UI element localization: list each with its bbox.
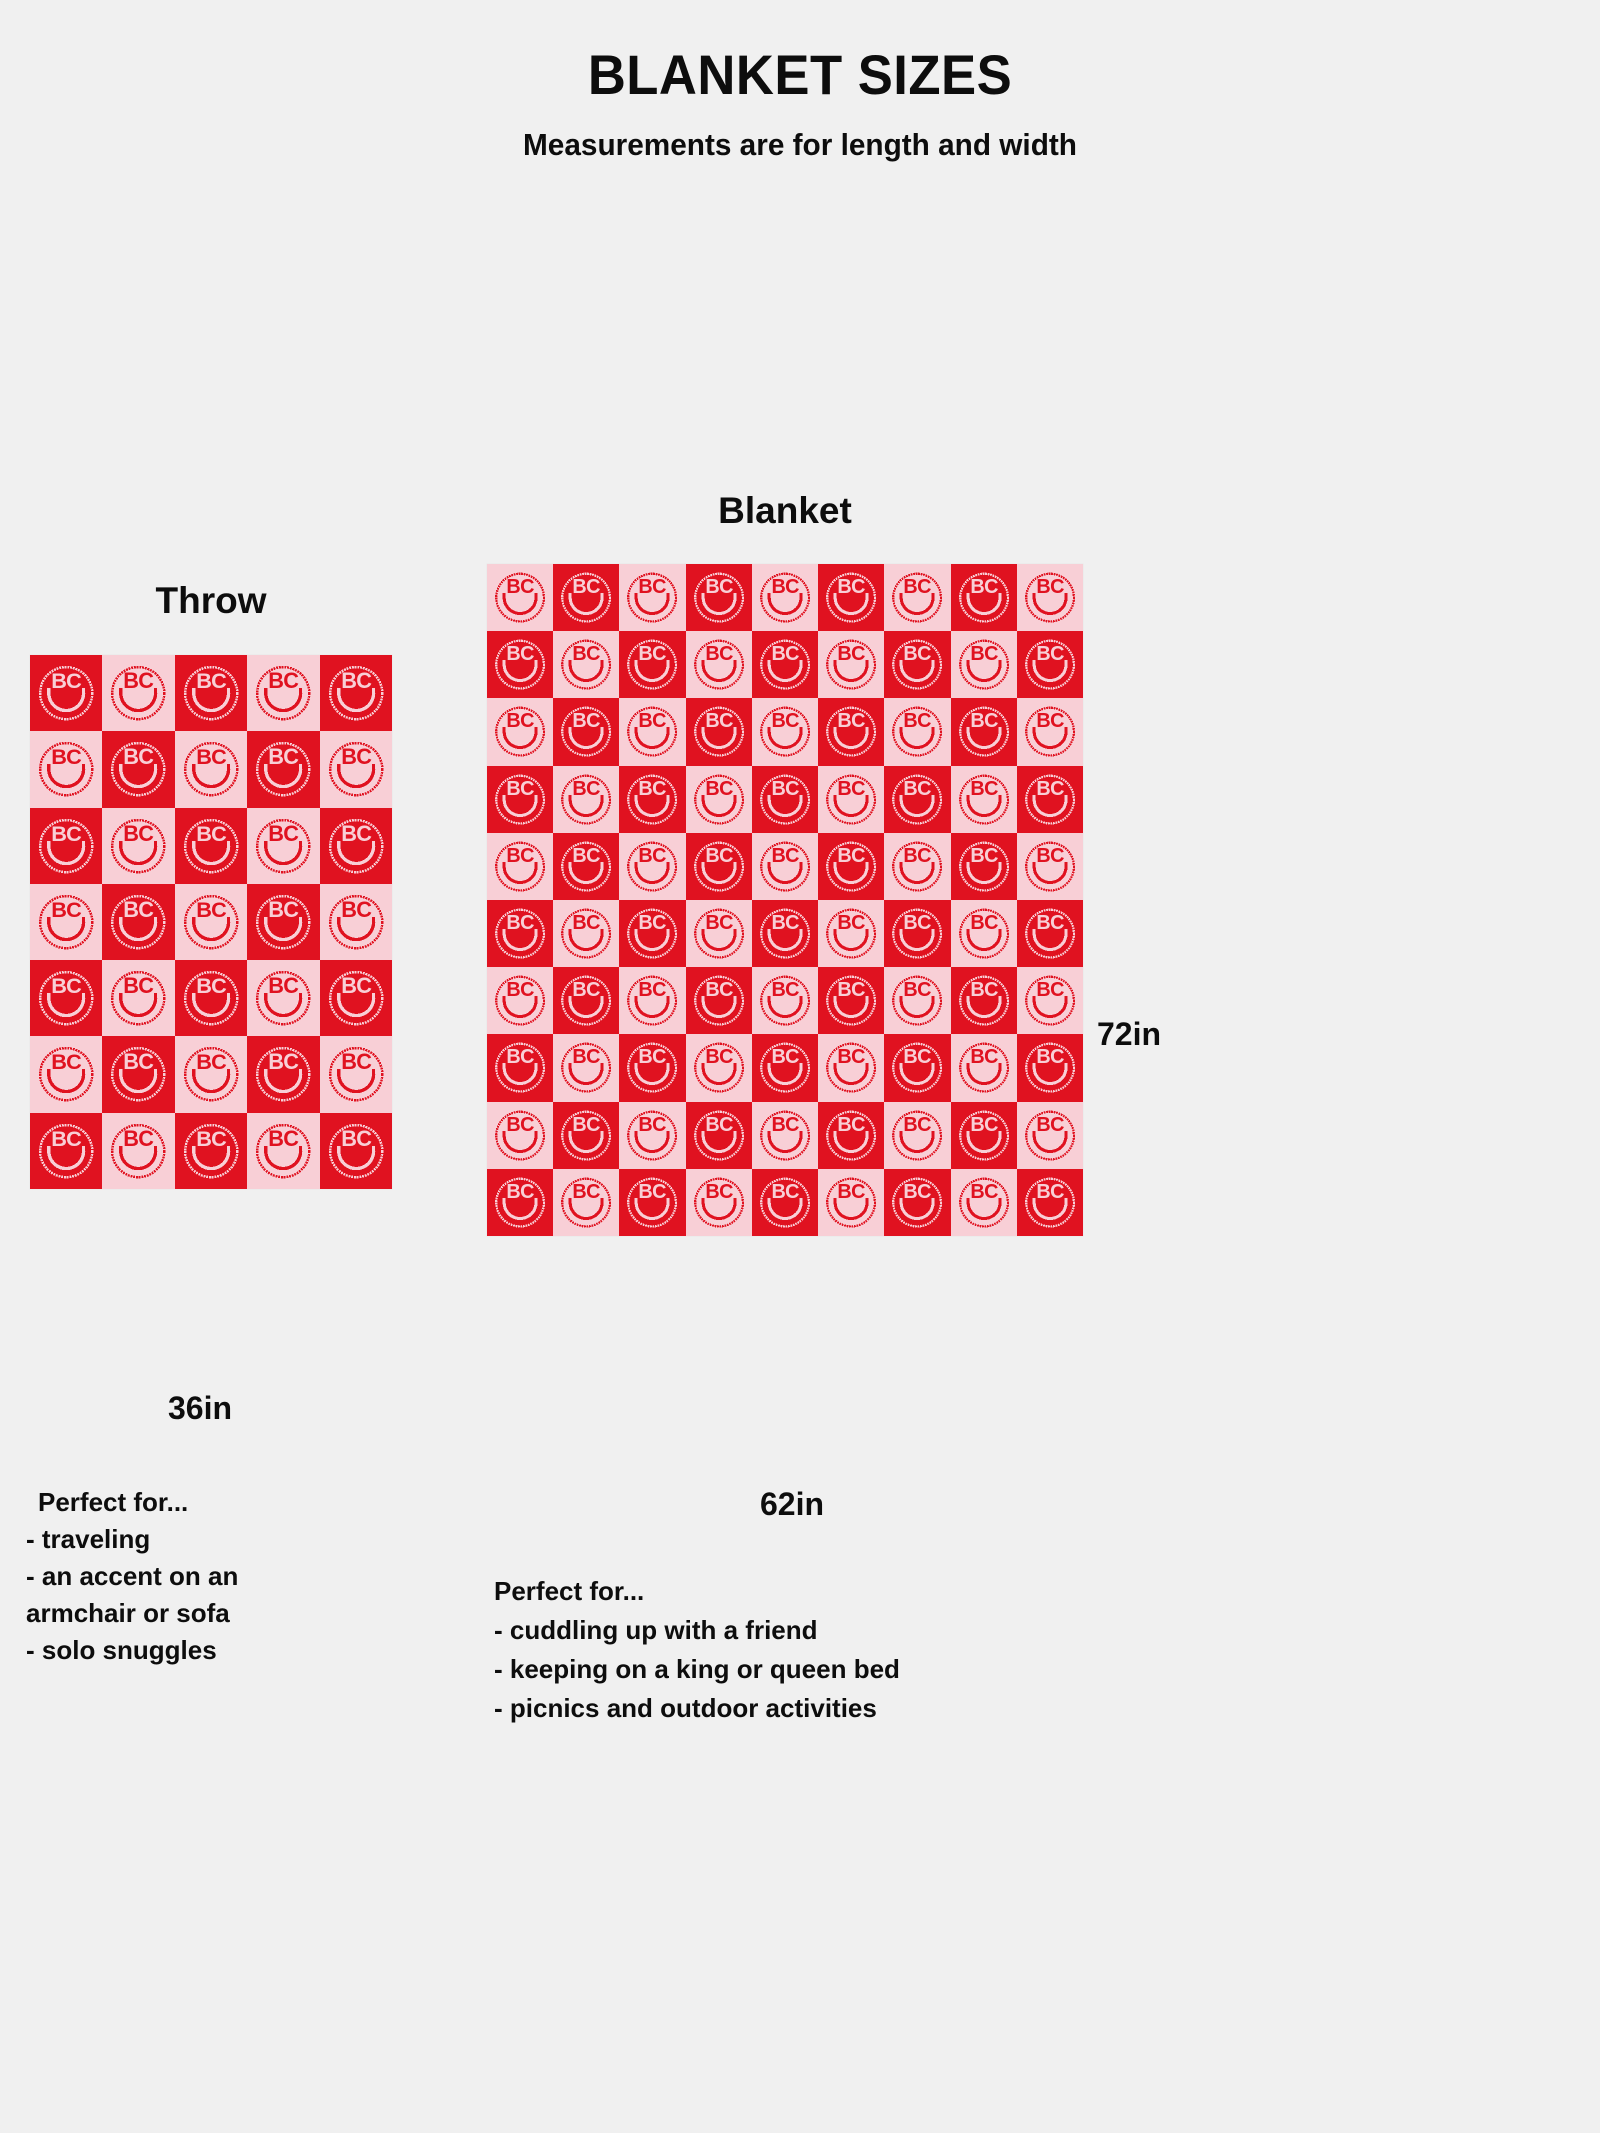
- blanket-cell: BC: [1017, 564, 1083, 631]
- blanket-cell: BC: [102, 808, 174, 884]
- bc-monogram: BC: [904, 979, 932, 1001]
- blanket-cell: BC: [686, 698, 752, 765]
- bc-monogram: BC: [838, 912, 866, 934]
- bc-monogram: BC: [639, 576, 667, 598]
- bc-monogram: BC: [771, 1181, 799, 1203]
- bc-monogram: BC: [1036, 1046, 1064, 1068]
- perfect-for-item: - an accent on an armchair or sofa: [26, 1558, 386, 1632]
- blanket-cell: BC: [320, 1036, 392, 1112]
- bc-smiley-icon: BC: [619, 967, 685, 1034]
- bc-smiley-icon: BC: [951, 833, 1017, 900]
- blanket-swatch-throw: BCBCBCBCBCBCBCBCBCBCBCBCBCBCBCBCBCBCBCBC…: [30, 655, 392, 1189]
- blanket-cell: BC: [30, 1036, 102, 1112]
- bc-monogram: BC: [705, 778, 733, 800]
- blanket-cell: BC: [247, 808, 319, 884]
- bc-monogram: BC: [838, 643, 866, 665]
- product-blanket: Blanket BCBCBCBCBCBCBCBCBCBCBCBCBCBCBCBC…: [487, 492, 1083, 1236]
- blanket-cell: BC: [752, 833, 818, 900]
- bc-smiley-icon: BC: [818, 1102, 884, 1169]
- bc-monogram: BC: [970, 1046, 998, 1068]
- blanket-cell: BC: [320, 808, 392, 884]
- bc-monogram: BC: [705, 845, 733, 867]
- bc-monogram: BC: [705, 643, 733, 665]
- blanket-cell: BC: [487, 564, 553, 631]
- blanket-cell: BC: [884, 1034, 950, 1101]
- bc-smiley-icon: BC: [818, 631, 884, 698]
- page-subtitle: Measurements are for length and width: [32, 105, 1568, 163]
- blanket-cell: BC: [818, 900, 884, 967]
- blanket-cell: BC: [102, 655, 174, 731]
- blanket-cell: BC: [951, 564, 1017, 631]
- bc-smiley-icon: BC: [487, 766, 553, 833]
- bc-smiley-icon: BC: [619, 698, 685, 765]
- blanket-cell: BC: [686, 564, 752, 631]
- bc-smiley-icon: BC: [686, 698, 752, 765]
- blanket-cell: BC: [752, 564, 818, 631]
- blanket-cell: BC: [553, 1034, 619, 1101]
- bc-smiley-icon: BC: [884, 900, 950, 967]
- blanket-cell: BC: [102, 960, 174, 1036]
- bc-smiley-icon: BC: [175, 655, 247, 731]
- blanket-cell: BC: [487, 967, 553, 1034]
- blanket-cell: BC: [175, 808, 247, 884]
- bc-smiley-icon: BC: [818, 1169, 884, 1236]
- blanket-cell: BC: [619, 833, 685, 900]
- bc-smiley-icon: BC: [619, 833, 685, 900]
- blanket-cell: BC: [1017, 1102, 1083, 1169]
- perfect-for-list: - traveling- an accent on an armchair or…: [26, 1521, 386, 1669]
- perfect-for-item: - cuddling up with a friend: [494, 1611, 1134, 1650]
- bc-smiley-icon: BC: [951, 1102, 1017, 1169]
- bc-monogram: BC: [1036, 643, 1064, 665]
- bc-monogram: BC: [51, 973, 82, 998]
- bc-smiley-icon: BC: [102, 655, 174, 731]
- bc-monogram: BC: [904, 1114, 932, 1136]
- bc-monogram: BC: [506, 643, 534, 665]
- bc-smiley-icon: BC: [102, 960, 174, 1036]
- blanket-cell: BC: [686, 900, 752, 967]
- bc-smiley-icon: BC: [30, 808, 102, 884]
- bc-smiley-icon: BC: [553, 1102, 619, 1169]
- blanket-cell: BC: [818, 1034, 884, 1101]
- blanket-cell: BC: [487, 766, 553, 833]
- bc-smiley-icon: BC: [884, 1169, 950, 1236]
- bc-monogram: BC: [506, 576, 534, 598]
- dimension-width-throw: 36in: [168, 1392, 232, 1424]
- bc-monogram: BC: [838, 979, 866, 1001]
- bc-monogram: BC: [573, 979, 601, 1001]
- blanket-cell: BC: [619, 1102, 685, 1169]
- blanket-cell: BC: [553, 766, 619, 833]
- blanket-cell: BC: [487, 1102, 553, 1169]
- bc-monogram: BC: [196, 821, 227, 846]
- bc-smiley-icon: BC: [752, 698, 818, 765]
- bc-smiley-icon: BC: [30, 655, 102, 731]
- blanket-cell: BC: [686, 967, 752, 1034]
- blanket-cell: BC: [175, 1036, 247, 1112]
- blanket-cell: BC: [30, 960, 102, 1036]
- blanket-cell: BC: [320, 655, 392, 731]
- bc-smiley-icon: BC: [553, 1034, 619, 1101]
- blanket-cell: BC: [247, 960, 319, 1036]
- bc-monogram: BC: [196, 668, 227, 693]
- blanket-cell: BC: [884, 1169, 950, 1236]
- blanket-cell: BC: [884, 564, 950, 631]
- blanket-cell: BC: [752, 766, 818, 833]
- bc-smiley-icon: BC: [752, 900, 818, 967]
- bc-smiley-icon: BC: [320, 655, 392, 731]
- bc-monogram: BC: [51, 744, 82, 769]
- bc-smiley-icon: BC: [686, 900, 752, 967]
- blanket-cell: BC: [487, 900, 553, 967]
- bc-smiley-icon: BC: [553, 967, 619, 1034]
- bc-smiley-icon: BC: [487, 1169, 553, 1236]
- blanket-cell: BC: [320, 884, 392, 960]
- blanket-cell: BC: [752, 967, 818, 1034]
- blanket-cell: BC: [752, 698, 818, 765]
- bc-monogram: BC: [1036, 845, 1064, 867]
- blanket-cell: BC: [553, 900, 619, 967]
- bc-smiley-icon: BC: [818, 900, 884, 967]
- bc-smiley-icon: BC: [553, 631, 619, 698]
- blanket-cell: BC: [553, 1102, 619, 1169]
- bc-smiley-icon: BC: [30, 960, 102, 1036]
- bc-smiley-icon: BC: [553, 766, 619, 833]
- bc-monogram: BC: [639, 778, 667, 800]
- blanket-cell: BC: [102, 731, 174, 807]
- blanket-cell: BC: [818, 766, 884, 833]
- bc-monogram: BC: [705, 912, 733, 934]
- bc-smiley-icon: BC: [487, 698, 553, 765]
- bc-monogram: BC: [838, 710, 866, 732]
- bc-smiley-icon: BC: [752, 631, 818, 698]
- bc-monogram: BC: [341, 897, 372, 922]
- bc-monogram: BC: [970, 845, 998, 867]
- bc-smiley-icon: BC: [884, 833, 950, 900]
- blanket-cell: BC: [487, 833, 553, 900]
- blanket-cell: BC: [553, 1169, 619, 1236]
- dimension-height-blanket: 72in: [1097, 1018, 1161, 1050]
- blanket-cell: BC: [487, 698, 553, 765]
- bc-smiley-icon: BC: [175, 1113, 247, 1189]
- bc-smiley-icon: BC: [686, 766, 752, 833]
- blanket-cell: BC: [884, 900, 950, 967]
- perfect-for-item: - solo snuggles: [26, 1632, 386, 1669]
- bc-smiley-icon: BC: [1017, 698, 1083, 765]
- bc-monogram: BC: [506, 845, 534, 867]
- blanket-cell: BC: [1017, 900, 1083, 967]
- bc-smiley-icon: BC: [686, 967, 752, 1034]
- blanket-cell: BC: [884, 833, 950, 900]
- bc-smiley-icon: BC: [818, 833, 884, 900]
- bc-monogram: BC: [771, 576, 799, 598]
- bc-monogram: BC: [573, 1114, 601, 1136]
- bc-smiley-icon: BC: [175, 808, 247, 884]
- blanket-cell: BC: [884, 766, 950, 833]
- blanket-cell: BC: [951, 631, 1017, 698]
- bc-smiley-icon: BC: [619, 900, 685, 967]
- bc-smiley-icon: BC: [884, 766, 950, 833]
- bc-monogram: BC: [771, 643, 799, 665]
- blanket-cell: BC: [1017, 698, 1083, 765]
- bc-monogram: BC: [506, 1114, 534, 1136]
- bc-smiley-icon: BC: [30, 1113, 102, 1189]
- blanket-cell: BC: [30, 1113, 102, 1189]
- bc-monogram: BC: [904, 643, 932, 665]
- bc-monogram: BC: [573, 1181, 601, 1203]
- perfect-for-lead: Perfect for...: [26, 1484, 386, 1521]
- bc-monogram: BC: [639, 710, 667, 732]
- bc-smiley-icon: BC: [1017, 833, 1083, 900]
- blanket-cell: BC: [619, 900, 685, 967]
- bc-monogram: BC: [341, 973, 372, 998]
- bc-monogram: BC: [639, 643, 667, 665]
- blanket-cell: BC: [247, 655, 319, 731]
- bc-monogram: BC: [771, 1114, 799, 1136]
- bc-smiley-icon: BC: [487, 1034, 553, 1101]
- bc-monogram: BC: [970, 643, 998, 665]
- bc-smiley-icon: BC: [30, 884, 102, 960]
- bc-monogram: BC: [771, 979, 799, 1001]
- blanket-cell: BC: [247, 1036, 319, 1112]
- bc-smiley-icon: BC: [30, 1036, 102, 1112]
- bc-monogram: BC: [1036, 710, 1064, 732]
- blanket-cell: BC: [686, 1034, 752, 1101]
- blanket-cell: BC: [884, 967, 950, 1034]
- bc-monogram: BC: [573, 845, 601, 867]
- bc-monogram: BC: [639, 979, 667, 1001]
- perfect-for-blanket: Perfect for... - cuddling up with a frie…: [494, 1572, 1134, 1728]
- bc-monogram: BC: [970, 778, 998, 800]
- blanket-cell: BC: [951, 900, 1017, 967]
- bc-smiley-icon: BC: [102, 808, 174, 884]
- bc-smiley-icon: BC: [619, 1102, 685, 1169]
- bc-smiley-icon: BC: [818, 1034, 884, 1101]
- blanket-cell: BC: [247, 884, 319, 960]
- bc-smiley-icon: BC: [320, 808, 392, 884]
- blanket-cell: BC: [553, 631, 619, 698]
- blanket-cell: BC: [951, 1102, 1017, 1169]
- bc-monogram: BC: [506, 979, 534, 1001]
- blanket-cell: BC: [951, 766, 1017, 833]
- bc-monogram: BC: [196, 1126, 227, 1151]
- bc-monogram: BC: [573, 710, 601, 732]
- bc-monogram: BC: [771, 778, 799, 800]
- bc-smiley-icon: BC: [247, 731, 319, 807]
- blanket-cell: BC: [553, 967, 619, 1034]
- blanket-cell: BC: [752, 631, 818, 698]
- bc-smiley-icon: BC: [686, 1034, 752, 1101]
- blanket-cell: BC: [619, 564, 685, 631]
- perfect-for-list: - cuddling up with a friend- keeping on …: [494, 1611, 1134, 1728]
- blanket-cell: BC: [818, 833, 884, 900]
- bc-smiley-icon: BC: [247, 655, 319, 731]
- bc-smiley-icon: BC: [102, 1036, 174, 1112]
- bc-smiley-icon: BC: [752, 766, 818, 833]
- bc-smiley-icon: BC: [884, 1034, 950, 1101]
- blanket-cell: BC: [320, 960, 392, 1036]
- bc-smiley-icon: BC: [487, 833, 553, 900]
- blanket-cell: BC: [951, 698, 1017, 765]
- blanket-cell: BC: [320, 1113, 392, 1189]
- blanket-cell: BC: [1017, 967, 1083, 1034]
- bc-smiley-icon: BC: [320, 884, 392, 960]
- blanket-cell: BC: [1017, 766, 1083, 833]
- bc-monogram: BC: [51, 668, 82, 693]
- bc-smiley-icon: BC: [247, 1113, 319, 1189]
- bc-smiley-icon: BC: [619, 766, 685, 833]
- bc-monogram: BC: [573, 778, 601, 800]
- blanket-cell: BC: [102, 1036, 174, 1112]
- bc-smiley-icon: BC: [951, 766, 1017, 833]
- bc-smiley-icon: BC: [487, 1102, 553, 1169]
- blanket-swatch-blanket: BCBCBCBCBCBCBCBCBCBCBCBCBCBCBCBCBCBCBCBC…: [487, 564, 1083, 1236]
- bc-monogram: BC: [904, 1046, 932, 1068]
- blanket-cell: BC: [487, 1169, 553, 1236]
- bc-monogram: BC: [838, 1046, 866, 1068]
- bc-smiley-icon: BC: [487, 900, 553, 967]
- bc-smiley-icon: BC: [1017, 631, 1083, 698]
- blanket-cell: BC: [175, 655, 247, 731]
- blanket-cell: BC: [884, 631, 950, 698]
- bc-smiley-icon: BC: [553, 900, 619, 967]
- bc-monogram: BC: [506, 1181, 534, 1203]
- bc-smiley-icon: BC: [951, 967, 1017, 1034]
- blanket-cell: BC: [951, 1169, 1017, 1236]
- bc-smiley-icon: BC: [1017, 900, 1083, 967]
- bc-smiley-icon: BC: [553, 698, 619, 765]
- blanket-cell: BC: [686, 766, 752, 833]
- bc-smiley-icon: BC: [686, 1169, 752, 1236]
- bc-monogram: BC: [904, 845, 932, 867]
- bc-smiley-icon: BC: [247, 808, 319, 884]
- bc-smiley-icon: BC: [619, 564, 685, 631]
- bc-smiley-icon: BC: [884, 1102, 950, 1169]
- product-name-blanket: Blanket: [487, 492, 1083, 529]
- bc-smiley-icon: BC: [320, 1036, 392, 1112]
- bc-smiley-icon: BC: [1017, 967, 1083, 1034]
- bc-monogram: BC: [341, 744, 372, 769]
- bc-monogram: BC: [904, 1181, 932, 1203]
- blanket-cell: BC: [818, 564, 884, 631]
- blanket-cell: BC: [553, 698, 619, 765]
- perfect-for-throw: Perfect for... - traveling- an accent on…: [26, 1484, 386, 1669]
- product-throw: Throw BCBCBCBCBCBCBCBCBCBCBCBCBCBCBCBCBC…: [30, 582, 392, 1189]
- bc-smiley-icon: BC: [884, 564, 950, 631]
- blanket-cell: BC: [30, 731, 102, 807]
- bc-monogram: BC: [838, 576, 866, 598]
- blanket-cell: BC: [619, 1169, 685, 1236]
- bc-smiley-icon: BC: [619, 1034, 685, 1101]
- bc-monogram: BC: [506, 1046, 534, 1068]
- blanket-cell: BC: [175, 884, 247, 960]
- blanket-cell: BC: [951, 967, 1017, 1034]
- bc-monogram: BC: [970, 710, 998, 732]
- bc-monogram: BC: [124, 897, 155, 922]
- perfect-for-item: - traveling: [26, 1521, 386, 1558]
- bc-smiley-icon: BC: [247, 884, 319, 960]
- bc-smiley-icon: BC: [320, 960, 392, 1036]
- bc-monogram: BC: [124, 1049, 155, 1074]
- bc-smiley-icon: BC: [686, 833, 752, 900]
- bc-smiley-icon: BC: [752, 564, 818, 631]
- bc-smiley-icon: BC: [1017, 564, 1083, 631]
- bc-smiley-icon: BC: [951, 900, 1017, 967]
- bc-monogram: BC: [771, 845, 799, 867]
- bc-smiley-icon: BC: [553, 564, 619, 631]
- blanket-cell: BC: [487, 1034, 553, 1101]
- bc-monogram: BC: [771, 912, 799, 934]
- bc-smiley-icon: BC: [818, 564, 884, 631]
- bc-monogram: BC: [1036, 1181, 1064, 1203]
- bc-monogram: BC: [51, 1126, 82, 1151]
- bc-monogram: BC: [705, 1181, 733, 1203]
- bc-monogram: BC: [639, 845, 667, 867]
- perfect-for-item: - picnics and outdoor activities: [494, 1689, 1134, 1728]
- bc-monogram: BC: [771, 1046, 799, 1068]
- bc-monogram: BC: [124, 744, 155, 769]
- bc-monogram: BC: [268, 1049, 299, 1074]
- blanket-cell: BC: [752, 1169, 818, 1236]
- blanket-cell: BC: [752, 1034, 818, 1101]
- bc-monogram: BC: [970, 979, 998, 1001]
- bc-monogram: BC: [268, 897, 299, 922]
- blanket-cell: BC: [619, 1034, 685, 1101]
- blanket-cell: BC: [175, 1113, 247, 1189]
- blanket-cell: BC: [686, 1102, 752, 1169]
- bc-monogram: BC: [51, 897, 82, 922]
- blanket-cell: BC: [818, 698, 884, 765]
- bc-monogram: BC: [341, 821, 372, 846]
- blanket-cell: BC: [951, 1034, 1017, 1101]
- blanket-cell: BC: [884, 698, 950, 765]
- blanket-cell: BC: [487, 631, 553, 698]
- bc-smiley-icon: BC: [818, 967, 884, 1034]
- bc-smiley-icon: BC: [884, 631, 950, 698]
- bc-smiley-icon: BC: [175, 1036, 247, 1112]
- blanket-cell: BC: [102, 884, 174, 960]
- bc-monogram: BC: [124, 821, 155, 846]
- blanket-cell: BC: [818, 1102, 884, 1169]
- bc-monogram: BC: [970, 1181, 998, 1203]
- bc-smiley-icon: BC: [320, 1113, 392, 1189]
- blanket-cell: BC: [619, 967, 685, 1034]
- blanket-cell: BC: [30, 808, 102, 884]
- bc-smiley-icon: BC: [752, 833, 818, 900]
- blanket-cell: BC: [247, 731, 319, 807]
- blanket-cell: BC: [1017, 1169, 1083, 1236]
- bc-monogram: BC: [341, 1126, 372, 1151]
- blanket-cell: BC: [818, 967, 884, 1034]
- bc-smiley-icon: BC: [175, 731, 247, 807]
- bc-smiley-icon: BC: [951, 698, 1017, 765]
- bc-monogram: BC: [196, 897, 227, 922]
- bc-smiley-icon: BC: [487, 564, 553, 631]
- bc-smiley-icon: BC: [884, 967, 950, 1034]
- bc-monogram: BC: [268, 668, 299, 693]
- blanket-cell: BC: [553, 833, 619, 900]
- bc-monogram: BC: [838, 1114, 866, 1136]
- bc-smiley-icon: BC: [247, 1036, 319, 1112]
- bc-monogram: BC: [573, 643, 601, 665]
- bc-smiley-icon: BC: [686, 631, 752, 698]
- bc-smiley-icon: BC: [752, 967, 818, 1034]
- blanket-cell: BC: [752, 1102, 818, 1169]
- bc-monogram: BC: [1036, 576, 1064, 598]
- blanket-cell: BC: [619, 698, 685, 765]
- blanket-cell: BC: [752, 900, 818, 967]
- bc-monogram: BC: [268, 973, 299, 998]
